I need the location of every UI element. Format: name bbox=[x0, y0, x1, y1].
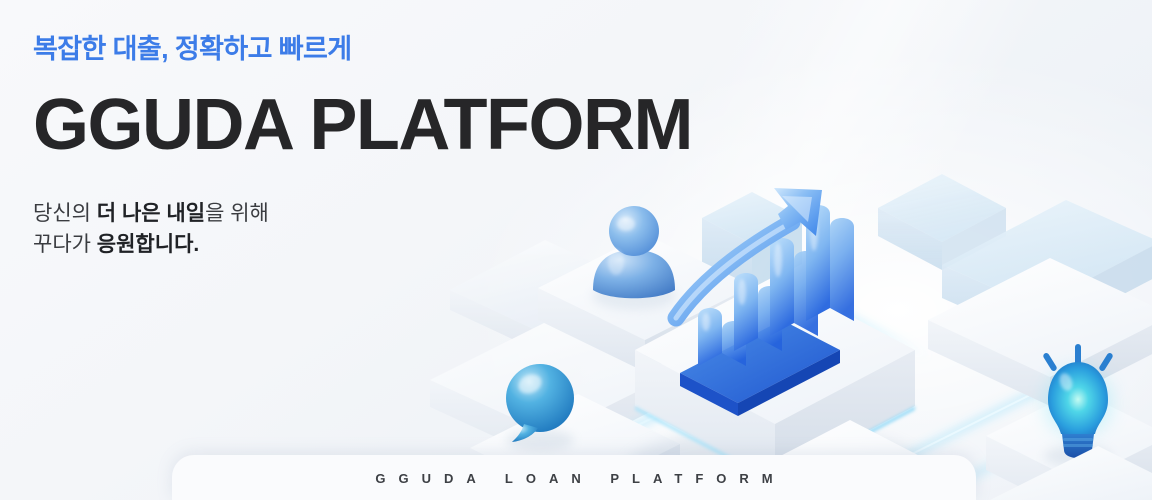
lede-text-1c: 을 위해 bbox=[205, 202, 269, 225]
lede-text-2a: 꾸다가 bbox=[33, 233, 97, 256]
hero-lede-line-2: 꾸다가 응원합니다. bbox=[33, 229, 593, 260]
hero-banner: 복잡한 대출, 정확하고 빠르게 GGUDA PLATFORM 당신의 더 나은… bbox=[0, 0, 1152, 500]
hero-eyebrow: 복잡한 대출, 정확하고 빠르게 bbox=[33, 33, 593, 67]
speech-bubble-icon bbox=[506, 364, 574, 451]
hero-copy: 복잡한 대출, 정확하고 빠르게 GGUDA PLATFORM 당신의 더 나은… bbox=[33, 33, 593, 260]
hero-lede: 당신의 더 나은 내일을 위해 꾸다가 응원합니다. bbox=[33, 198, 593, 260]
lede-text-2b: 응원합니다. bbox=[97, 233, 199, 256]
page-title: GGUDA PLATFORM bbox=[33, 89, 593, 162]
bottom-ribbon: GGUDA LOAN PLATFORM bbox=[172, 455, 976, 500]
lede-text-1b: 더 나은 내일 bbox=[97, 202, 205, 225]
hero-lede-line-1: 당신의 더 나은 내일을 위해 bbox=[33, 198, 593, 229]
lede-text-1a: 당신의 bbox=[33, 202, 97, 225]
ribbon-label: GGUDA LOAN PLATFORM bbox=[362, 471, 785, 486]
